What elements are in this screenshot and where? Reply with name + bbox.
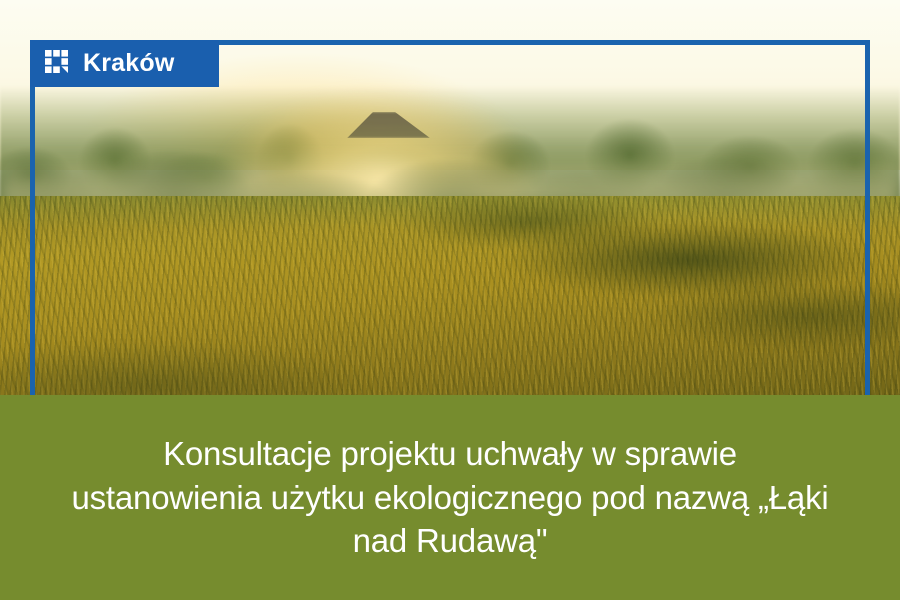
krakow-logo-label: Kraków bbox=[83, 51, 175, 76]
poster: Kraków Konsultacje projektu uchwały w sp… bbox=[0, 0, 900, 600]
caption-band: Konsultacje projektu uchwały w sprawie u… bbox=[0, 395, 900, 600]
meadow-shading bbox=[0, 196, 900, 400]
caption-title: Konsultacje projektu uchwały w sprawie u… bbox=[65, 432, 835, 564]
meadow-layer bbox=[0, 196, 900, 400]
krakow-grid-logo-icon bbox=[45, 50, 72, 77]
krakow-logo-badge[interactable]: Kraków bbox=[30, 40, 219, 87]
